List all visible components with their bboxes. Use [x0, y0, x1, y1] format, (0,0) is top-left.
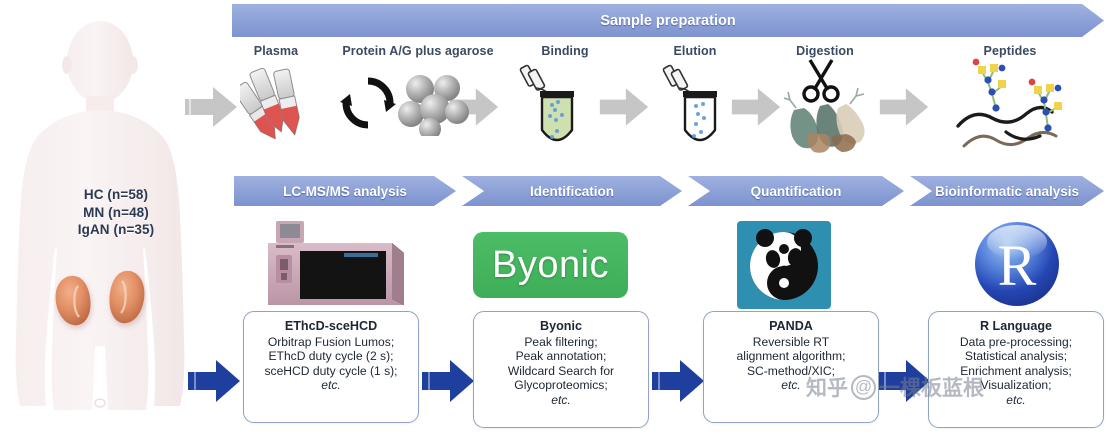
info-box-etc: etc. [250, 378, 412, 393]
info-box-r-language: R Language Data pre-processing; Statisti… [928, 311, 1104, 428]
info-box-line: Glycoproteomics; [480, 378, 642, 393]
info-box-byonic: Byonic Peak filtering; Peak annotation; … [473, 311, 649, 428]
info-box-line: Visualization; [935, 378, 1097, 393]
byonic-logo: Byonic [473, 232, 628, 298]
banner-identification: Identification [462, 176, 682, 206]
workflow-figure: HC (n=58) MN (n=48) IgAN (n=35) Sample p… [0, 0, 1107, 434]
step-label-elution: Elution [640, 44, 750, 58]
info-box-title: Byonic [480, 319, 642, 334]
cohort-mn: MN (n=48) [0, 204, 232, 222]
info-box-line: Peak filtering; [480, 335, 642, 350]
rotation-cycle-icon [340, 74, 396, 132]
blood-collection-tubes-icon [240, 58, 326, 148]
r-logo-text: R [998, 233, 1037, 298]
banner-bioinformatic-analysis: Bioinformatic analysis [910, 176, 1104, 206]
arrow-right-icon [598, 85, 650, 129]
cohort-label-list: HC (n=58) MN (n=48) IgAN (n=35) [0, 186, 232, 239]
banner-sample-preparation: Sample preparation [232, 4, 1104, 37]
r-language-logo: R [972, 218, 1062, 310]
info-box-etc: etc. [935, 393, 1097, 408]
info-box-line: Enrichment analysis; [935, 364, 1097, 379]
info-box-title: EThcD-sceHCD [250, 319, 412, 334]
arrow-right-navy-icon [876, 358, 932, 404]
banner-quantification: Quantification [688, 176, 904, 206]
panda-logo [737, 221, 831, 309]
step-label-plasma: Plasma [226, 44, 326, 58]
info-box-etc: etc. [480, 393, 642, 408]
info-box-line: alignment algorithm; [710, 349, 872, 364]
info-box-line: sceHCD duty cycle (1 s); [250, 364, 412, 379]
info-box-line: Reversible RT [710, 335, 872, 350]
scissors-icon [804, 60, 838, 101]
mass-spectrometer-icon [252, 221, 412, 309]
info-box-line: Statistical analysis; [935, 349, 1097, 364]
info-box-ethcd-scehcd: EThcD-sceHCD Orbitrap Fusion Lumos; EThc… [243, 311, 419, 423]
info-box-panda: PANDA Reversible RT alignment algorithm;… [703, 311, 879, 423]
info-box-line: SC-method/XIC; [710, 364, 872, 379]
byonic-logo-text: Byonic [492, 244, 609, 287]
arrow-right-navy-icon [650, 358, 706, 404]
arrow-right-icon [183, 85, 239, 129]
info-box-title: R Language [935, 319, 1097, 334]
arrow-right-icon [878, 85, 930, 129]
info-box-line: Peak annotation; [480, 349, 642, 364]
info-box-line: Wildcard Search for [480, 364, 642, 379]
tube-elution-clear-icon [655, 58, 725, 156]
info-box-title: PANDA [710, 319, 872, 334]
cohort-igan: IgAN (n=35) [0, 221, 232, 239]
tube-binding-green-icon [512, 58, 582, 156]
info-box-line: Orbitrap Fusion Lumos; [250, 335, 412, 350]
arrow-right-navy-icon [186, 358, 242, 404]
info-box-etc: etc. [710, 378, 872, 393]
info-box-line: Data pre-processing; [935, 335, 1097, 350]
scissors-antibody-icon [780, 56, 876, 156]
glycopeptide-chains-icon [948, 56, 1078, 156]
cohort-hc: HC (n=58) [0, 186, 232, 204]
arrow-right-navy-icon [420, 358, 476, 404]
step-label-binding: Binding [510, 44, 620, 58]
banner-lc-ms-ms-analysis: LC-MS/MS analysis [234, 176, 456, 206]
info-box-line: EThcD duty cycle (2 s); [250, 349, 412, 364]
step-label-protein-ag: Protein A/G plus agarose [318, 44, 518, 58]
arrow-right-icon [730, 85, 782, 129]
agarose-beads-icon [398, 72, 470, 136]
